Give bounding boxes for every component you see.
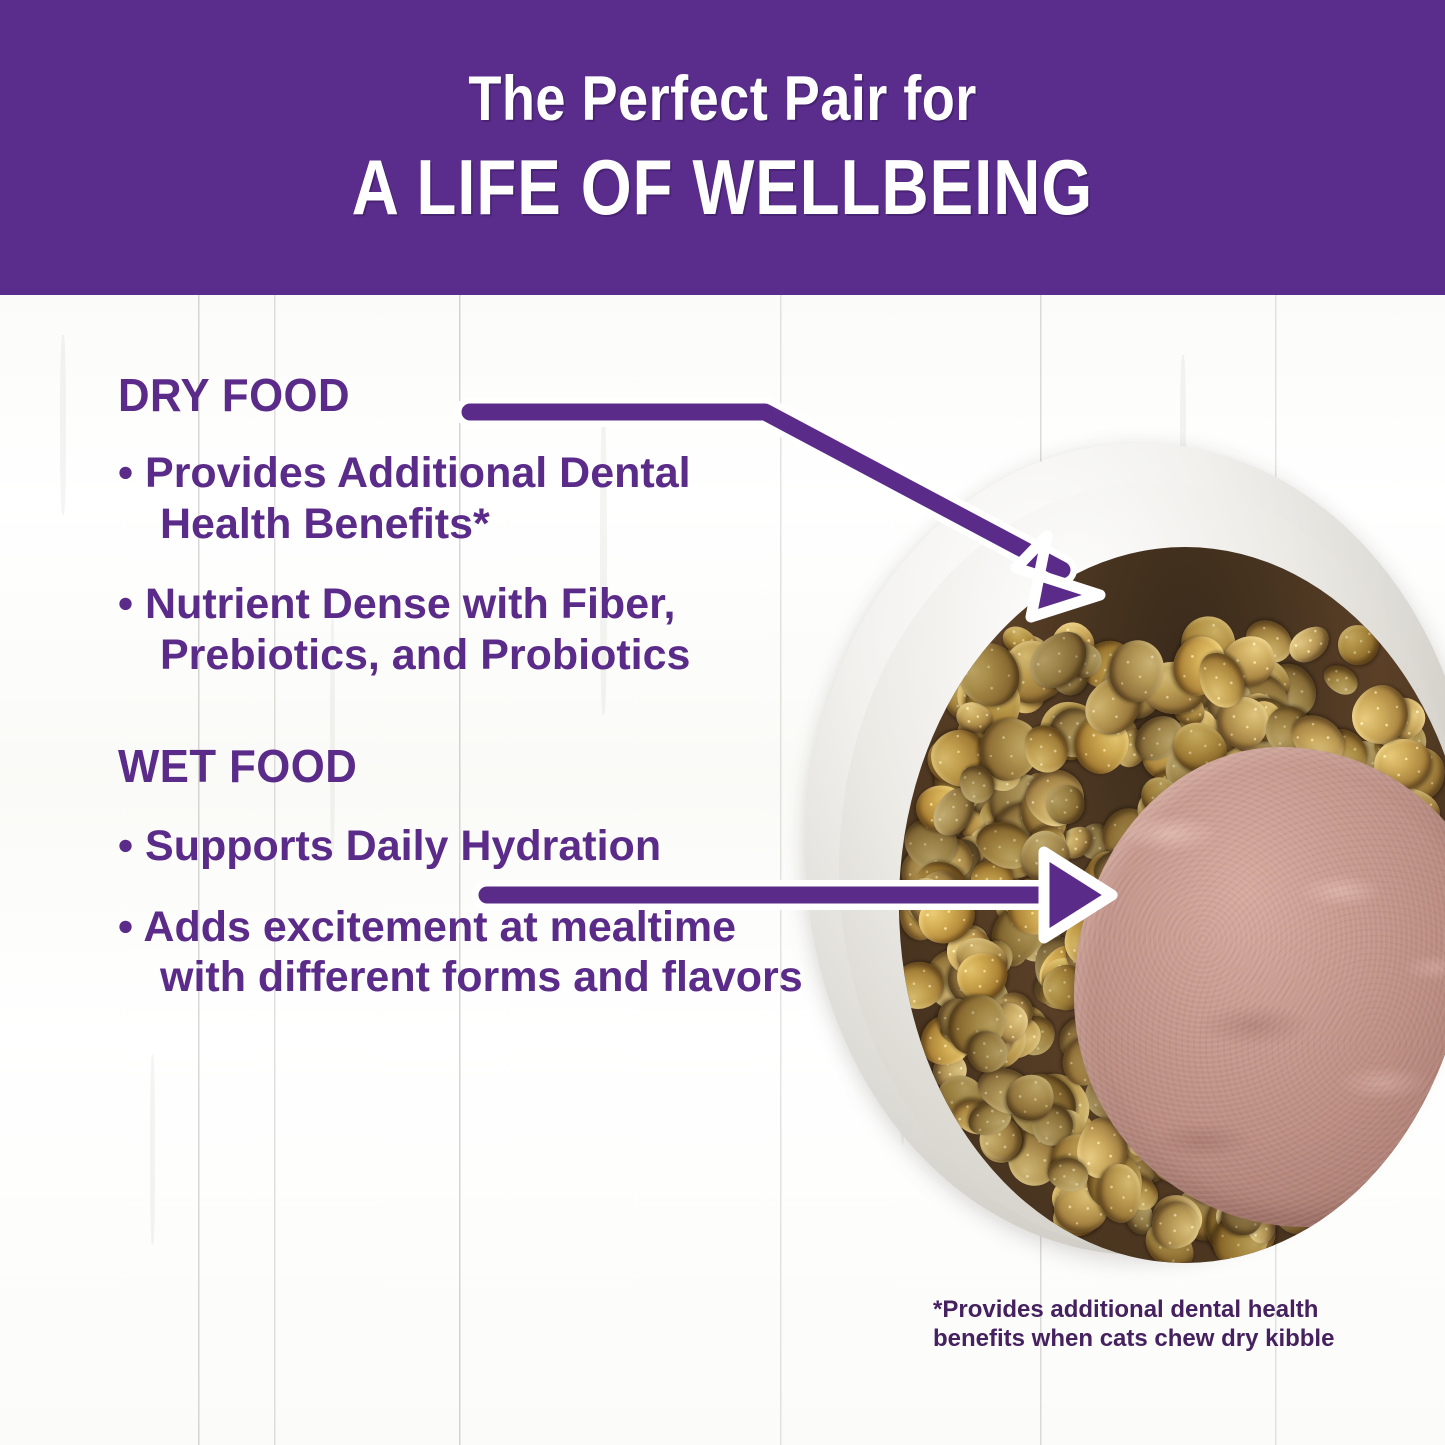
- list-item: • Adds excitement at mealtime with diffe…: [118, 902, 818, 1003]
- wet-food-bullet-list: • Supports Daily Hydration • Adds excite…: [118, 821, 818, 1003]
- list-item: • Supports Daily Hydration: [118, 821, 818, 872]
- list-item: • Provides Additional Dental Health Bene…: [118, 448, 818, 549]
- dry-food-heading: DRY FOOD: [118, 372, 783, 418]
- header-title-line2: A LIFE OF WELLBEING: [352, 147, 1093, 229]
- bullet-text: Adds excitement at mealtime with differe…: [143, 903, 802, 1002]
- bullet-dot-icon: •: [118, 580, 133, 628]
- kibble-piece: [1319, 659, 1363, 700]
- header-title-line1: The Perfect Pair for: [468, 66, 976, 132]
- bullet-dot-icon: •: [118, 822, 133, 870]
- bowl-outer-rim: [805, 443, 1445, 1255]
- wet-food-heading: WET FOOD: [118, 743, 783, 789]
- bowl-inner-rim: [839, 483, 1445, 1251]
- bowl-interior: [899, 547, 1445, 1263]
- pet-food-bowl-photo: [795, 425, 1445, 1265]
- dry-food-bullet-list: • Provides Additional Dental Health Bene…: [118, 448, 818, 681]
- promo-infographic: The Perfect Pair for A LIFE OF WELLBEING: [0, 0, 1445, 1445]
- footnote-text: *Provides additional dental health benef…: [933, 1295, 1403, 1354]
- wet-food-pate: [1074, 747, 1445, 1227]
- kibble-piece: [1283, 620, 1336, 670]
- bullet-text: Nutrient Dense with Fiber, Prebiotics, a…: [145, 580, 690, 679]
- list-item: • Nutrient Dense with Fiber, Prebiotics,…: [118, 579, 818, 680]
- bullet-dot-icon: •: [118, 449, 133, 497]
- bullet-dot-icon: •: [118, 903, 133, 951]
- bullet-text: Supports Daily Hydration: [145, 822, 661, 870]
- header-banner: The Perfect Pair for A LIFE OF WELLBEING: [0, 0, 1445, 295]
- bullet-text: Provides Additional Dental Health Benefi…: [145, 449, 691, 548]
- benefits-column: DRY FOOD • Provides Additional Dental He…: [118, 372, 818, 1033]
- kibble-piece: [1337, 623, 1382, 666]
